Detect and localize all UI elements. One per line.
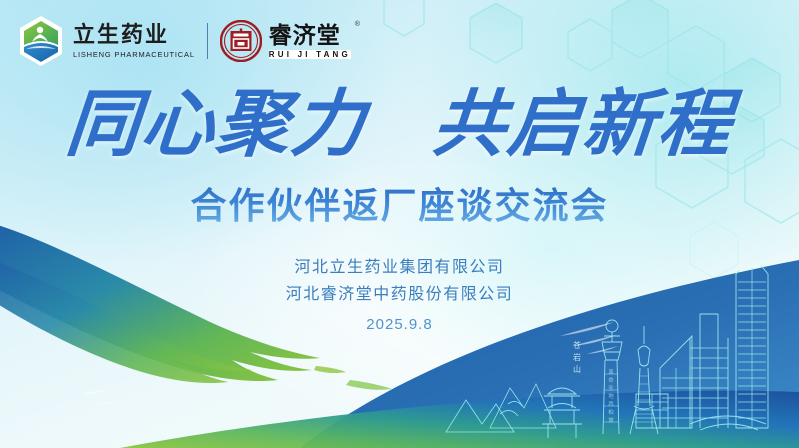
gradient-brush-stroke (0, 222, 392, 390)
headline-phrase-2: 共启新程 (429, 84, 736, 165)
logo-bar: 立生药业 LISHENG PHARMACEUTICAL 睿济堂 RUI JI T… (18, 16, 351, 66)
svg-text:柏: 柏 (608, 408, 614, 416)
bottom-artwork: 苍 岩 山 革 命 圣 地 西 柏 坡 (0, 218, 799, 448)
event-banner: 立生药业 LISHENG PHARMACEUTICAL 睿济堂 RUI JI T… (0, 0, 799, 448)
logo-divider (207, 23, 208, 59)
brand-primary-name-cn: 立生药业 (73, 23, 195, 46)
mountain-label-char-2: 岩 (573, 352, 581, 362)
svg-text:地: 地 (608, 392, 614, 400)
brand-primary-name-en: LISHENG PHARMACEUTICAL (73, 50, 195, 59)
brand-secondary-name-cn: 睿济堂 (269, 23, 351, 47)
svg-text:革: 革 (608, 368, 614, 376)
svg-text:坡: 坡 (608, 416, 614, 424)
page-title: 同心聚力 共启新程 (0, 88, 799, 161)
brand-primary: 立生药业 LISHENG PHARMACEUTICAL (73, 23, 195, 58)
mountain-label-char-3: 山 (573, 364, 581, 374)
svg-text:命: 命 (608, 376, 614, 384)
headline-phrase-1: 同心聚力 (63, 84, 370, 165)
brand-secondary-name-en: RUI JI TANG (269, 50, 351, 59)
svg-text:圣: 圣 (608, 384, 614, 392)
svg-text:西: 西 (608, 401, 614, 408)
circular-red-seal-icon (220, 20, 262, 62)
hexagon-leaf-person-icon (18, 15, 64, 67)
registered-trademark-icon: ® (355, 21, 360, 28)
brand-secondary: 睿济堂 RUI JI TANG ® (220, 20, 351, 62)
